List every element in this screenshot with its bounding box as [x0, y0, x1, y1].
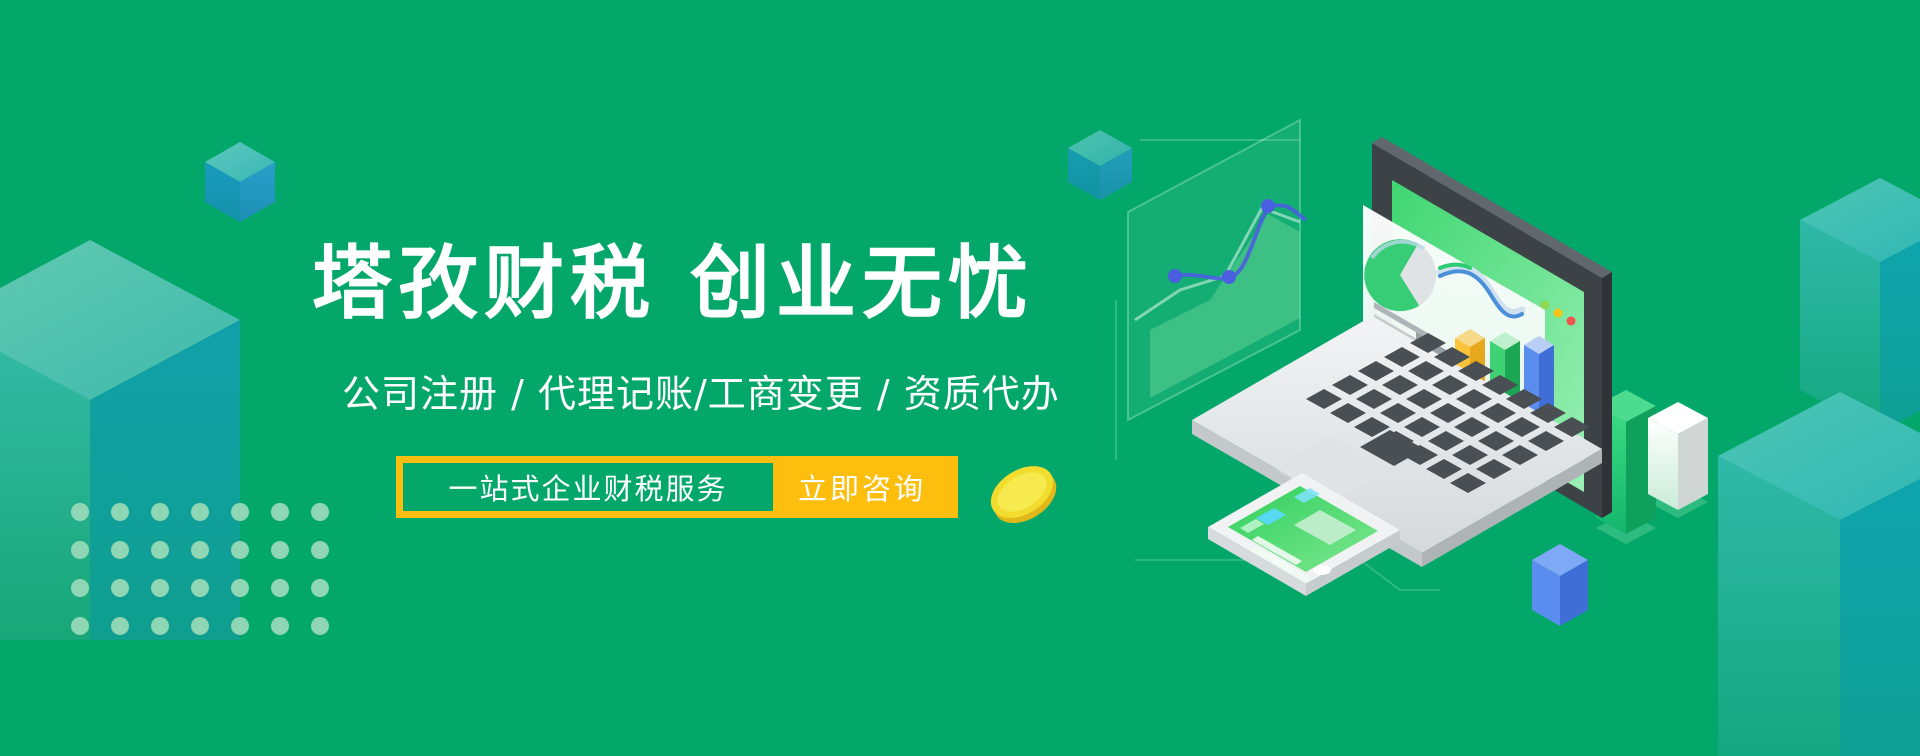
coin-icon: [982, 455, 1066, 533]
cta-bar: 一站式企业财税服务 立即咨询: [396, 456, 958, 518]
cta-tag-label: 一站式企业财税服务: [403, 463, 773, 511]
promo-banner: 塔孜财税创业无忧 公司注册 / 代理记账/工商变更 / 资质代办 一站式企业财税…: [0, 0, 1920, 756]
device-illustration: [0, 0, 1920, 756]
consult-now-button[interactable]: 立即咨询: [773, 463, 951, 511]
